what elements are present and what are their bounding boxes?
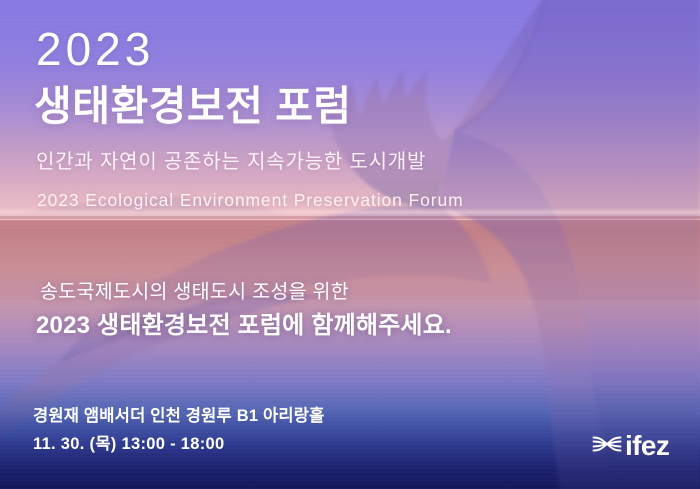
poster-venue: 경원재 앰배서더 인천 경원루 B1 아리랑홀 [33,402,325,426]
poster-lead-emphasis: 2023 생태환경보전 포럼에 함께해주세요. [36,305,452,340]
poster-datetime: 11. 30. (목) 13:00 - 18:00 [33,430,224,454]
ifez-knot-icon [592,432,622,461]
ifez-wordmark: ifez [625,432,669,460]
ifez-logo: ifez [592,431,669,461]
event-poster: 2023 생태환경보전 포럼 인간과 자연이 공존하는 지속가능한 도시개발 2… [0,0,700,489]
poster-year: 2023 [36,26,154,72]
poster-subtitle-korean: 인간과 자연이 공존하는 지속가능한 도시개발 [36,145,426,174]
poster-title-korean: 생태환경보전 포럼 [34,84,352,129]
poster-subtitle-english: 2023 Ecological Environment Preservation… [37,190,464,211]
poster-lead-line: 송도국제도시의 생태도시 조성을 위한 [40,275,349,304]
